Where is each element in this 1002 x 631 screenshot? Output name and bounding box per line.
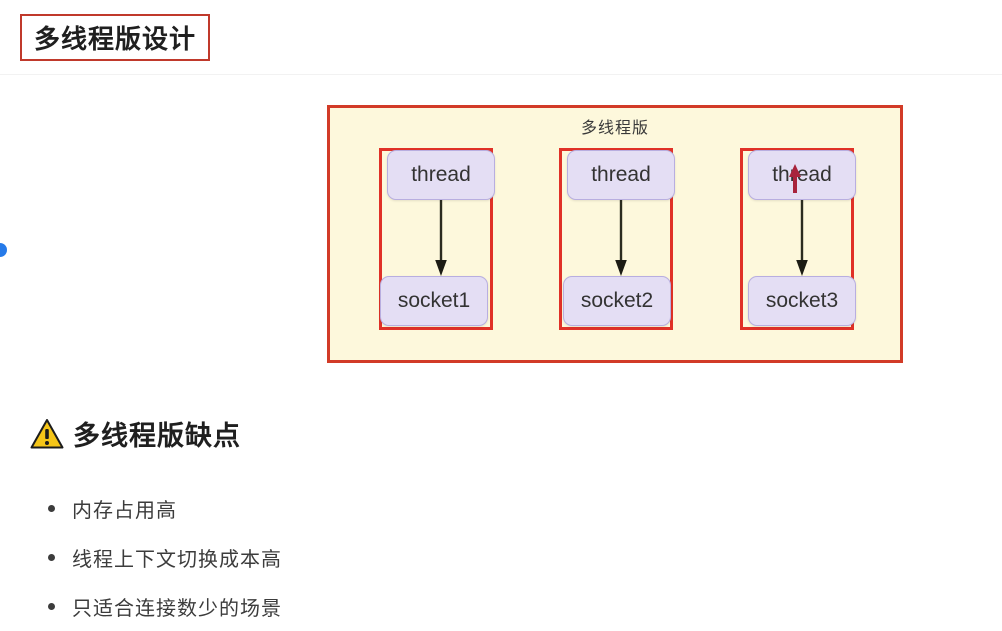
socket-node-1: socket1: [380, 276, 488, 326]
warning-triangle-icon: [30, 417, 64, 451]
diagram-caption: 多线程版: [330, 114, 900, 138]
left-edge-marker-dot: [0, 243, 7, 257]
drawbacks-heading: 多线程版缺点: [73, 414, 241, 453]
drawbacks-list: 内存占用高 线程上下文切换成本高 只适合连接数少的场景: [48, 484, 282, 631]
list-item-label: 只适合连接数少的场景: [72, 592, 282, 621]
arrow-down-icon-3: [795, 200, 809, 278]
socket-node-2: socket2: [563, 276, 671, 326]
bullet-icon: [48, 505, 55, 512]
bullet-icon: [48, 603, 55, 610]
red-caret-annotation-icon: [787, 164, 803, 194]
list-item: 内存占用高: [48, 484, 282, 533]
arrow-down-icon-1: [434, 200, 448, 278]
arrow-down-icon-2: [614, 200, 628, 278]
list-item: 线程上下文切换成本高: [48, 533, 282, 582]
page-title: 多线程版设计: [34, 19, 196, 56]
list-item: 只适合连接数少的场景: [48, 582, 282, 631]
list-item-label: 线程上下文切换成本高: [72, 543, 282, 572]
bullet-icon: [48, 554, 55, 561]
page-title-box: 多线程版设计: [20, 14, 210, 61]
list-item-label: 内存占用高: [72, 494, 177, 523]
multithread-diagram: 多线程版 thread socket1 thread socket2 threa…: [327, 105, 903, 363]
socket-node-3: socket3: [748, 276, 856, 326]
thread-node-1: thread: [387, 150, 495, 200]
drawbacks-heading-row: 多线程版缺点: [30, 414, 241, 453]
thread-node-2: thread: [567, 150, 675, 200]
header-divider: [0, 74, 1002, 75]
